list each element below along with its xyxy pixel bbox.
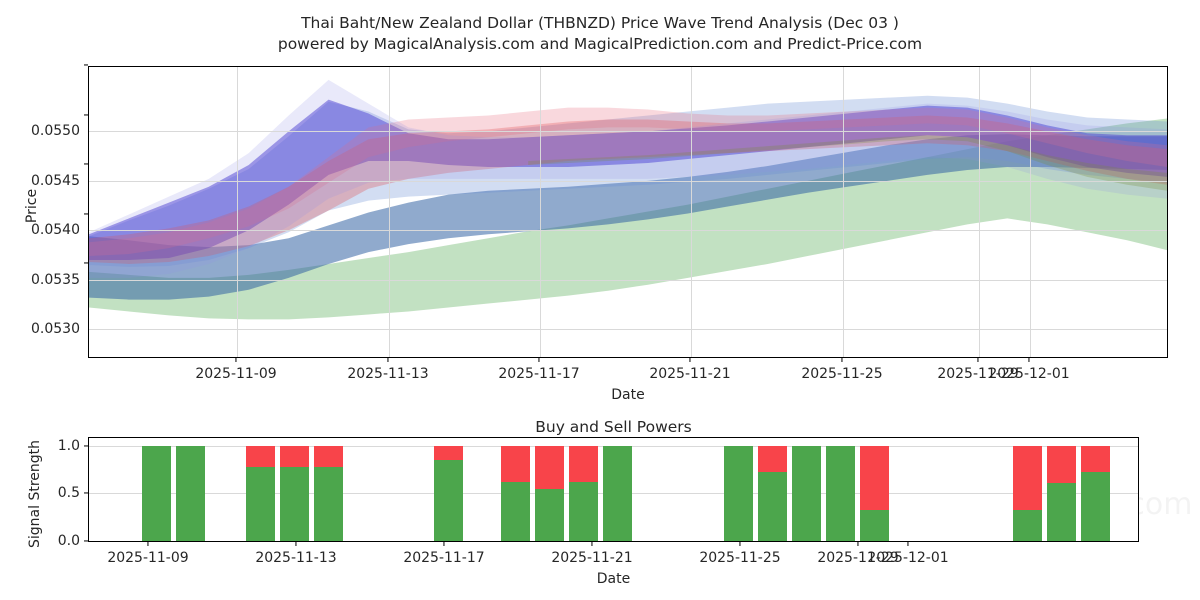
y-tickmark [84,164,88,165]
x-tick-label: 2025-11-13 [347,366,428,382]
x-tickmark [841,358,842,362]
x-tickmark [689,358,690,362]
x-tick-label: 2025-11-25 [801,366,882,382]
x-tick-label: 2025-12-01 [867,550,948,566]
sell-power-segment[interactable] [246,446,275,467]
x-tick-label: 2025-11-17 [403,550,484,566]
buy-power-segment[interactable] [501,482,530,541]
buy-power-segment[interactable] [603,446,632,541]
y-tick-label: 0.0535 [31,272,80,288]
sell-power-segment[interactable] [1013,446,1042,510]
sell-power-segment[interactable] [569,446,598,482]
sell-power-segment[interactable] [535,446,564,489]
buy-power-segment[interactable] [280,467,309,541]
x-tickmark [857,542,858,546]
x-tick-label: 2025-11-13 [255,550,336,566]
y-tickmark [84,213,88,214]
y-tickmark [84,493,88,494]
buy-power-segment[interactable] [826,446,855,541]
x-tickmark [1028,358,1029,362]
sell-power-segment[interactable] [434,446,463,460]
figure-title-line-1: Thai Baht/New Zealand Dollar (THBNZD) Pr… [0,13,1200,34]
buy-power-segment[interactable] [1081,472,1110,541]
buy-power-segment[interactable] [1047,483,1076,541]
buy-power-segment[interactable] [792,446,821,541]
buy-power-segment[interactable] [758,472,787,541]
x-tickmark [591,542,592,546]
buy-power-segment[interactable] [434,460,463,541]
buy-power-segment[interactable] [246,467,275,541]
gridline-vertical [979,67,980,357]
sell-power-segment[interactable] [758,446,787,473]
signal-y-tick-labels: 0.00.51.0 [6,437,80,542]
x-tick-label: 2025-11-09 [195,366,276,382]
signal-x-axis-label: Date [88,571,1139,587]
gridline-horizontal [89,230,1167,231]
buy-power-segment[interactable] [860,510,889,541]
figure-title-line-2: powered by MagicalAnalysis.com and Magic… [0,34,1200,55]
x-tickmark [295,542,296,546]
sell-power-segment[interactable] [314,446,343,467]
x-tick-label: 2025-11-21 [551,550,632,566]
x-tick-label: 2025-11-09 [107,550,188,566]
gridline-vertical [540,67,541,357]
y-tickmark [84,65,88,66]
gridline-horizontal [89,131,1167,132]
price-wave-bands [89,67,1167,357]
y-tick-label: 0.0550 [31,123,80,139]
buy-power-segment[interactable] [724,446,753,541]
price-wave-plot-area [88,66,1168,358]
buy-power-segment[interactable] [1013,510,1042,541]
y-tickmark [84,445,88,446]
signal-x-tick-labels: 2025-11-092025-11-132025-11-172025-11-21… [88,542,1139,566]
x-tickmark [538,358,539,362]
x-tick-label: 2025-11-21 [649,366,730,382]
buy-power-segment[interactable] [314,467,343,541]
sell-power-segment[interactable] [860,446,889,510]
signal-y-axis-label: Signal Strength [27,434,43,554]
sell-power-segment[interactable] [280,446,309,467]
buy-sell-powers-plot-area [88,437,1139,542]
x-tickmark [387,358,388,362]
x-tick-label: 2025-11-25 [699,550,780,566]
figure-canvas: MagicalAnalysis.comMagicalPrediction.com… [0,0,1200,600]
x-tickmark [235,358,236,362]
y-tickmark [84,263,88,264]
y-tick-label: 0.5 [58,485,80,501]
y-tick-label: 1.0 [58,438,80,454]
buy-power-segment[interactable] [535,489,564,541]
x-tickmark [443,542,444,546]
sell-power-segment[interactable] [1081,446,1110,473]
price-x-tick-labels: 2025-11-092025-11-132025-11-172025-11-21… [88,358,1168,382]
buy-power-segment[interactable] [142,446,171,541]
y-tick-label: 0.0 [58,533,80,549]
sell-power-segment[interactable] [1047,446,1076,483]
gridline-vertical [843,67,844,357]
x-tickmark [739,542,740,546]
buy-power-segment[interactable] [569,482,598,541]
gridline-vertical [691,67,692,357]
price-y-tick-labels: 0.05300.05350.05400.05450.0550 [6,66,80,358]
gridline-vertical [1030,67,1031,357]
buy-power-segment[interactable] [176,446,205,541]
sell-power-segment[interactable] [501,446,530,482]
gridline-horizontal [89,181,1167,182]
gridline-horizontal [89,280,1167,281]
x-tick-label: 2025-12-01 [988,366,1069,382]
gridline-vertical [237,67,238,357]
price-x-axis-label: Date [88,387,1168,403]
gridline-vertical [389,67,390,357]
x-tickmark [977,358,978,362]
gridline-horizontal [89,329,1167,330]
buy-sell-powers-title: Buy and Sell Powers [88,418,1139,436]
y-tick-label: 0.0530 [31,321,80,337]
x-tick-label: 2025-11-17 [498,366,579,382]
y-tickmark [84,540,88,541]
x-tickmark [147,542,148,546]
y-tickmark [84,114,88,115]
x-tickmark [907,542,908,546]
price-y-axis-label: Price [24,166,40,246]
